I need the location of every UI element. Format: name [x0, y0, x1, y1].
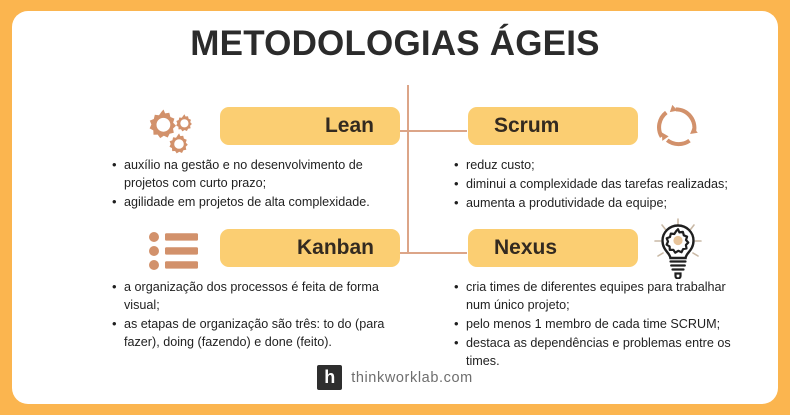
pill-nexus[interactable]: Nexus [468, 229, 638, 267]
infographic-card: METODOLOGIAS ÁGEIS Lean a [12, 11, 778, 404]
lightbulb-gear-icon [646, 217, 710, 279]
list-item: aumenta a produtividade da equipe; [454, 195, 752, 213]
bullet-list-icon [142, 225, 206, 277]
pill-scrum[interactable]: Scrum [468, 107, 638, 145]
page-title: METODOLOGIAS ÁGEIS [12, 25, 778, 64]
block-lean-header: Lean [90, 103, 400, 157]
infographic-frame: METODOLOGIAS ÁGEIS Lean a [0, 0, 790, 415]
list-item: auxílio na gestão e no desenvolvimento d… [112, 157, 400, 193]
bullet-list-kanban: a organização dos processos é feita de f… [90, 279, 400, 352]
list-item: agilidade em projetos de alta complexida… [112, 194, 400, 212]
footer-branding: h thinkworklab.com [12, 365, 778, 390]
block-nexus: Nexus [432, 225, 752, 371]
block-kanban-header: Kanban [90, 225, 400, 279]
list-item: pelo menos 1 membro de cada time SCRUM; [454, 316, 752, 334]
list-item: reduz custo; [454, 157, 752, 175]
block-nexus-header: Nexus [432, 225, 752, 279]
list-item: a organização dos processos é feita de f… [112, 279, 400, 315]
bullet-list-nexus: cria times de diferentes equipes para tr… [432, 279, 752, 370]
list-item: diminui a complexidade das tarefas reali… [454, 176, 752, 194]
brand-logo-letter: h [317, 365, 342, 390]
gears-icon [142, 103, 206, 155]
brand-site-label: thinkworklab.com [351, 370, 473, 386]
bullet-list-scrum: reduz custo; diminui a complexidade das … [432, 157, 752, 213]
block-lean: Lean auxílio na gestão e no desenvolvime… [90, 103, 400, 213]
block-scrum: Scrum [432, 103, 752, 214]
brand-logo-icon: h [317, 365, 342, 390]
block-kanban: Kanban a organização dos processos é fei… [90, 225, 400, 353]
pill-lean[interactable]: Lean [220, 107, 400, 145]
bullet-list-lean: auxílio na gestão e no desenvolvimento d… [90, 157, 400, 212]
list-item: as etapas de organização são três: to do… [112, 316, 400, 352]
list-item: cria times de diferentes equipes para tr… [454, 279, 752, 315]
pill-kanban[interactable]: Kanban [220, 229, 400, 267]
connector-spine-vertical [407, 85, 409, 253]
cycle-arrows-icon [646, 101, 710, 153]
block-scrum-header: Scrum [432, 103, 752, 157]
